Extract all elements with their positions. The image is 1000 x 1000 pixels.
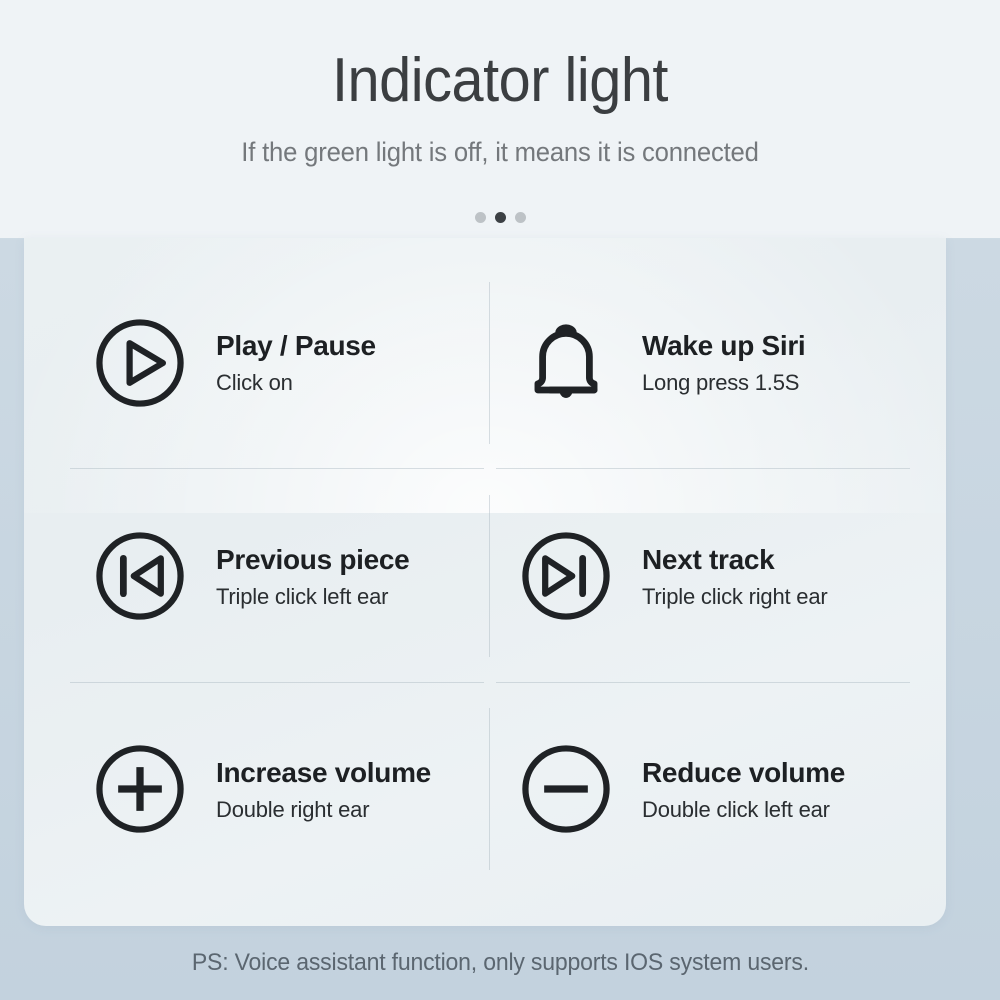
page-subtitle: If the green light is off, it means it i… — [25, 113, 975, 168]
page-title: Indicator light — [35, 0, 965, 113]
carousel-dot-2-active[interactable] — [495, 212, 506, 223]
next-track-circle-icon — [514, 524, 618, 628]
bell-icon — [514, 311, 618, 415]
controls-card: Play / Pause Click on Wake up Siri Lon — [24, 238, 946, 926]
control-item-wake-up-siri[interactable]: Wake up Siri Long press 1.5S — [490, 256, 916, 469]
carousel-dot-1[interactable] — [475, 212, 486, 223]
control-title: Wake up Siri — [642, 328, 805, 363]
control-item-play-pause[interactable]: Play / Pause Click on — [64, 256, 490, 469]
previous-track-circle-icon — [88, 524, 192, 628]
control-action: Triple click left ear — [216, 583, 409, 611]
control-item-reduce-volume[interactable]: Reduce volume Double click left ear — [490, 683, 916, 896]
minus-circle-icon — [514, 737, 618, 841]
control-title: Play / Pause — [216, 328, 376, 363]
control-title: Reduce volume — [642, 755, 845, 790]
control-labels: Wake up Siri Long press 1.5S — [642, 328, 805, 397]
control-labels: Next track Triple click right ear — [642, 542, 828, 611]
control-labels: Reduce volume Double click left ear — [642, 755, 845, 824]
control-title: Increase volume — [216, 755, 431, 790]
control-item-increase-volume[interactable]: Increase volume Double right ear — [64, 683, 490, 896]
header: Indicator light If the green light is of… — [0, 0, 1000, 238]
control-labels: Play / Pause Click on — [216, 328, 376, 397]
control-action: Long press 1.5S — [642, 369, 805, 397]
control-action: Click on — [216, 369, 376, 397]
control-action: Triple click right ear — [642, 583, 828, 611]
control-action: Double click left ear — [642, 796, 845, 824]
play-pause-circle-icon — [88, 311, 192, 415]
control-item-previous-piece[interactable]: Previous piece Triple click left ear — [64, 469, 490, 682]
carousel-dot-3[interactable] — [515, 212, 526, 223]
control-item-next-track[interactable]: Next track Triple click right ear — [490, 469, 916, 682]
control-action: Double right ear — [216, 796, 431, 824]
footer-note: PS: Voice assistant function, only suppo… — [191, 949, 808, 977]
control-labels: Previous piece Triple click left ear — [216, 542, 409, 611]
control-title: Next track — [642, 542, 828, 577]
control-labels: Increase volume Double right ear — [216, 755, 431, 824]
product-feature-page: Indicator light If the green light is of… — [0, 0, 1000, 1000]
plus-circle-icon — [88, 737, 192, 841]
footer: PS: Voice assistant function, only suppo… — [0, 926, 1000, 1000]
control-title: Previous piece — [216, 542, 409, 577]
carousel-dots[interactable] — [0, 212, 1000, 223]
controls-grid: Play / Pause Click on Wake up Siri Lon — [24, 238, 946, 926]
